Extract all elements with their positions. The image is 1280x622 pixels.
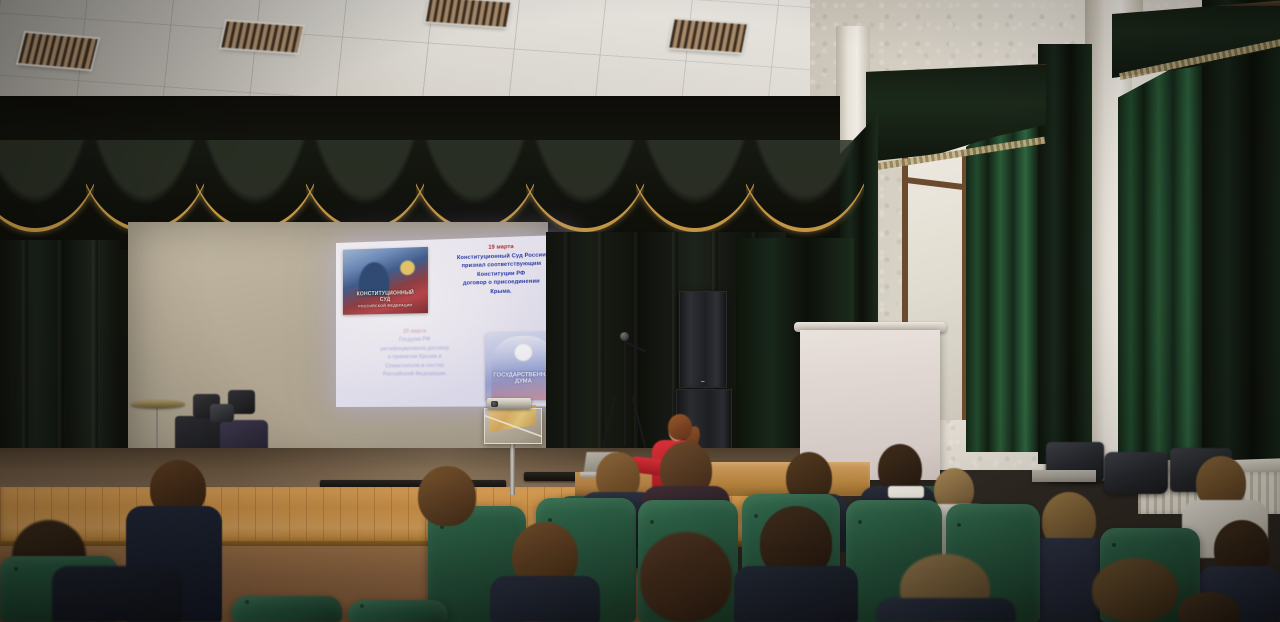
auditorium-photo: КОНСТИТУЦИОННЫЙ СУД РОССИЙСКОЙ ФЕДЕРАЦИИ… — [0, 0, 1280, 622]
snare-drum — [210, 404, 234, 422]
slide-main-line-2: признал соответствующим — [462, 261, 542, 270]
constitutional-court-image: КОНСТИТУЦИОННЫЙ СУД РОССИЙСКОЙ ФЕДЕРАЦИИ — [343, 247, 428, 315]
speaker-badge: ▬ — [701, 379, 705, 383]
audience-torso — [734, 566, 858, 622]
projected-slide: КОНСТИТУЦИОННЫЙ СУД РОССИЙСКОЙ ФЕДЕРАЦИИ… — [336, 235, 569, 407]
window-curtain-dark — [1202, 0, 1280, 460]
slide-main-line-0: 19 марта — [488, 244, 513, 251]
presenter-hair — [668, 414, 692, 440]
auditorium-seat[interactable] — [232, 596, 342, 622]
slide-faint-line-4: Севастополя в состав — [386, 362, 445, 369]
audience-torso-foreground — [876, 598, 1016, 622]
pa-speaker-top: ▬ — [679, 291, 727, 388]
valance-swag — [0, 140, 94, 240]
curtain-rod — [862, 59, 1050, 65]
slide-faint-line-0: 20 марта — [403, 328, 426, 335]
mic-stand-pole — [624, 340, 626, 446]
audience-head-foreground — [640, 532, 732, 622]
window-curtain — [1118, 48, 1210, 460]
window-curtain-dark — [1038, 44, 1092, 464]
projector-device — [487, 398, 531, 409]
audience-torso-foreground — [52, 566, 182, 622]
auditorium-seat[interactable] — [348, 600, 448, 622]
projector-lens-icon — [491, 401, 498, 407]
backpack — [1104, 452, 1168, 494]
ceiling-vent-icon — [18, 33, 97, 69]
audience-head — [418, 466, 476, 526]
cymbal-icon — [131, 400, 185, 408]
slide-faint-line-3: о принятии Крыма и — [388, 354, 442, 361]
double-eagle-icon — [397, 256, 418, 279]
shirt-collar — [888, 486, 924, 498]
slide-main-line-4: договор о присоединении — [463, 279, 540, 287]
ceiling-vent-icon — [669, 19, 746, 52]
slide-faint-line-5: Российской Федерации. — [383, 371, 447, 378]
valance-swag — [746, 140, 864, 240]
slide-main-line-3: Конституции РФ — [477, 270, 525, 278]
slide-faint-line-2: ратифицировала договор — [381, 345, 450, 352]
slide-faint-text: 20 марта Госдума РФ ратифицировала догов… — [362, 327, 468, 380]
audience-torso — [490, 576, 600, 622]
double-eagle-icon — [511, 338, 536, 366]
valance-swag — [636, 140, 754, 240]
audience-head-foreground — [1092, 558, 1178, 622]
court-image-caption: КОНСТИТУЦИОННЫЙ СУД РОССИЙСКОЙ ФЕДЕРАЦИИ — [346, 290, 424, 310]
lectern-stem — [510, 443, 515, 495]
court-caption-line3: РОССИЙСКОЙ ФЕДЕРАЦИИ — [358, 303, 412, 308]
slide-main-line-5: Крыма. — [490, 288, 511, 295]
window-bay — [1128, 0, 1280, 470]
window-sill — [1032, 470, 1096, 482]
slide-main-line-1: Конституционный Суд России — [457, 252, 546, 261]
ceiling-vent-icon — [221, 21, 303, 52]
slide-faint-line-1: Госдума РФ — [399, 337, 430, 344]
lectern-diagonal-brace — [484, 408, 542, 444]
court-caption-line2: СУД — [380, 296, 391, 302]
microphone-icon — [620, 332, 629, 341]
